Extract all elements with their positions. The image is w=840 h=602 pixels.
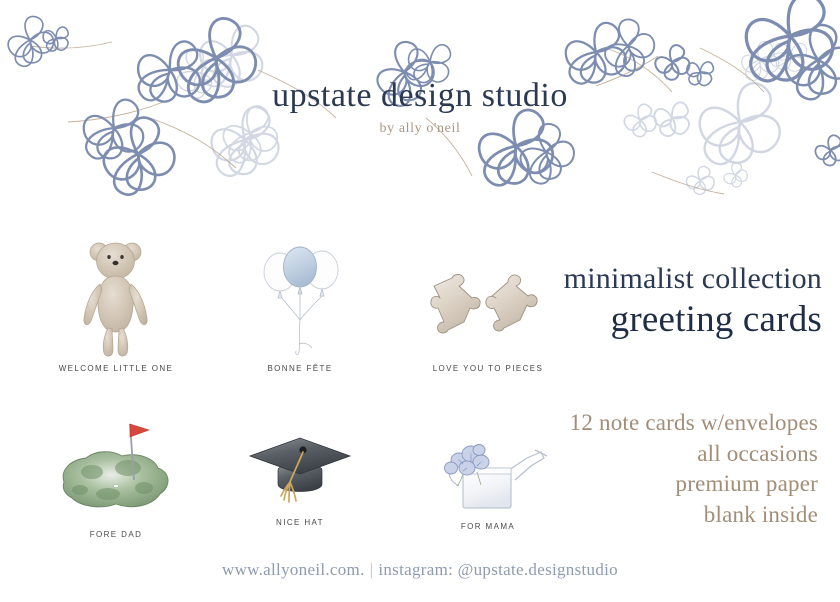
product-caption: BONNE FÊTE: [212, 364, 388, 373]
brand-subtitle: by ally o'neil: [0, 121, 840, 137]
watering-can-icon: [400, 436, 576, 516]
footer-separator: |: [365, 560, 379, 579]
product-caption: NICE HAT: [212, 518, 388, 527]
feature-item: 12 note cards w/envelopes: [398, 408, 818, 439]
puzzle-pieces-icon: [400, 262, 576, 358]
product-card-nice-hat: NICE HAT: [212, 430, 388, 527]
product-caption: FOR MAMA: [400, 522, 576, 531]
product-caption: LOVE YOU TO PIECES: [400, 364, 576, 373]
product-card-bonne-fete: BONNE FÊTE: [212, 246, 388, 373]
balloons-icon: [212, 246, 388, 358]
product-card-for-mama: FOR MAMA: [400, 436, 576, 531]
product-card-fore-dad: FORE DAD: [28, 412, 204, 539]
product-caption: WELCOME LITTLE ONE: [28, 364, 204, 373]
footer-contact: www.allyoneil.com.|instagram: @upstate.d…: [0, 560, 840, 580]
teddy-bear-icon: [28, 236, 204, 358]
website-link[interactable]: www.allyoneil.com.: [222, 560, 365, 579]
instagram-link[interactable]: instagram: @upstate.designstudio: [378, 560, 618, 579]
poster-canvas: upstate design studio by ally o'neil min…: [0, 0, 840, 602]
brand-header: upstate design studio by ally o'neil: [0, 78, 840, 137]
page-title: upstate design studio: [0, 78, 840, 114]
product-card-welcome-little-one: WELCOME LITTLE ONE: [28, 236, 204, 373]
golf-green-icon: [28, 412, 204, 524]
graduation-cap-icon: [212, 430, 388, 512]
product-caption: FORE DAD: [28, 530, 204, 539]
product-card-love-you-to-pieces: LOVE YOU TO PIECES: [400, 262, 576, 373]
